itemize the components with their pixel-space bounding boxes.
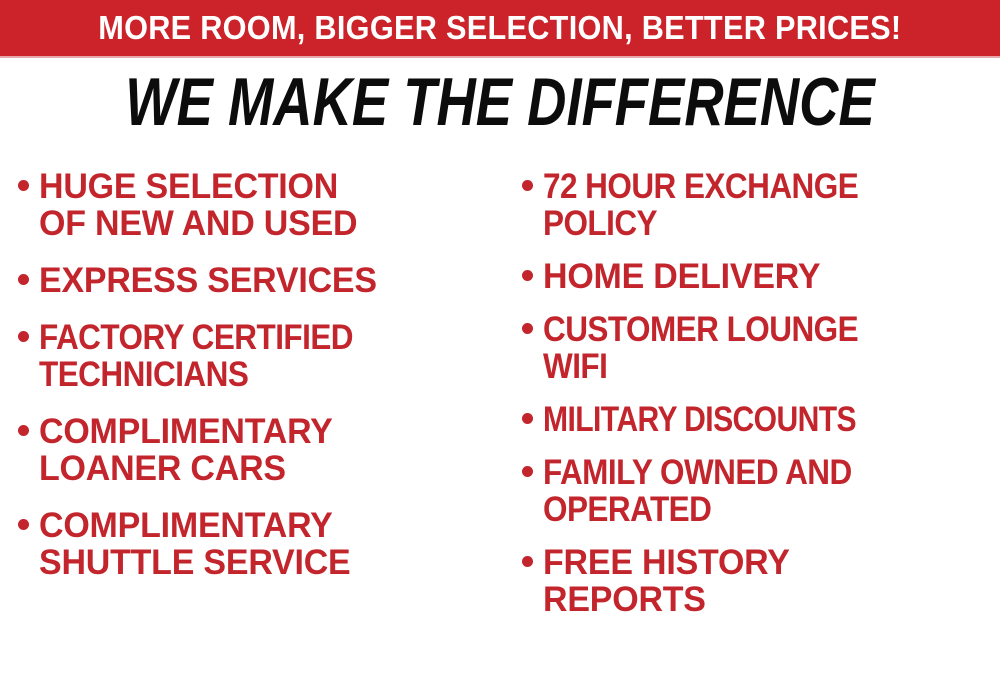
list-item-label: FACTORY CERTIFIED TECHNICIANS [39,319,454,393]
list-item-label: HOME DELIVERY [543,258,986,295]
promo-banner-text: MORE ROOM, BIGGER SELECTION, BETTER PRIC… [98,11,901,46]
list-item-label: FREE HISTORY REPORTS [543,544,986,618]
list-item-label: FAMILY OWNED AND OPERATED [543,454,954,528]
list-item-label: CUSTOMER LOUNGE WIFI [543,311,954,385]
promo-poster: MORE ROOM, BIGGER SELECTION, BETTER PRIC… [0,0,1000,694]
bullet-dot-icon [18,425,29,436]
list-item-label: MILITARY DISCOUNTS [543,401,936,438]
bullet-dot-icon [522,413,533,424]
banner-underline-divider [0,56,1000,58]
list-item: FREE HISTORY REPORTS [522,544,1000,618]
benefits-columns: HUGE SELECTION OF NEW AND USED EXPRESS S… [0,160,1000,694]
list-item-label: EXPRESS SERVICES [39,262,486,299]
promo-banner: MORE ROOM, BIGGER SELECTION, BETTER PRIC… [0,0,1000,56]
list-item: COMPLIMENTARY SHUTTLE SERVICE [18,507,500,581]
page-title: WE MAKE THE DIFFERENCE [100,66,900,138]
list-item: FAMILY OWNED AND OPERATED [522,454,1000,528]
benefits-column-left: HUGE SELECTION OF NEW AND USED EXPRESS S… [0,160,500,601]
bullet-dot-icon [18,519,29,530]
list-item-label: COMPLIMENTARY SHUTTLE SERVICE [39,507,486,581]
bullet-dot-icon [522,466,533,477]
list-item: FACTORY CERTIFIED TECHNICIANS [18,319,500,393]
list-item-label: COMPLIMENTARY LOANER CARS [39,413,486,487]
bullet-dot-icon [522,556,533,567]
benefits-column-right: 72 HOUR EXCHANGE POLICY HOME DELIVERY CU… [500,160,1000,634]
list-item: COMPLIMENTARY LOANER CARS [18,413,500,487]
bullet-dot-icon [18,331,29,342]
bullet-dot-icon [18,180,29,191]
list-item: 72 HOUR EXCHANGE POLICY [522,168,1000,242]
list-item-label: 72 HOUR EXCHANGE POLICY [543,168,954,242]
list-item: HOME DELIVERY [522,258,1000,295]
list-item: MILITARY DISCOUNTS [522,401,1000,438]
bullet-dot-icon [522,323,533,334]
list-item-label: HUGE SELECTION OF NEW AND USED [39,168,486,242]
list-item: CUSTOMER LOUNGE WIFI [522,311,1000,385]
bullet-dot-icon [522,270,533,281]
bullet-dot-icon [522,180,533,191]
list-item: EXPRESS SERVICES [18,262,500,299]
list-item: HUGE SELECTION OF NEW AND USED [18,168,500,242]
bullet-dot-icon [18,274,29,285]
